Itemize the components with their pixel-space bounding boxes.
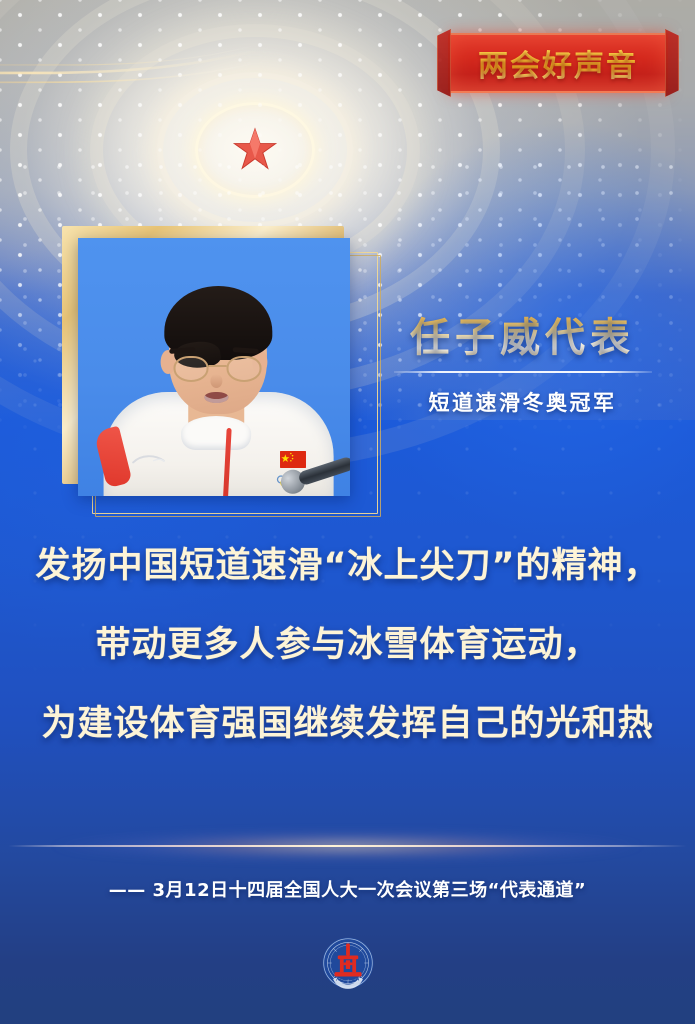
top-ribbon: 两会好声音: [448, 33, 668, 93]
svg-text:XINHUA: XINHUA: [335, 976, 359, 982]
source-attribution: —— 3月12日十四届全国人大一次会议第三场“代表通道”: [0, 876, 695, 902]
speaker-photo: [78, 238, 350, 496]
photo-lens-right: [227, 356, 262, 382]
poster-root: 两会好声音: [0, 0, 695, 1024]
quote-line-1: 发扬中国短道速滑“冰上尖刀”的精神，: [0, 548, 695, 585]
photo-mouth: [204, 392, 228, 403]
quote-line-3: 为建设体育强国继续发挥自己的光和热: [0, 706, 695, 743]
sportswear-brand-icon: [132, 452, 166, 464]
speaker-photo-block: [62, 226, 362, 511]
photo-lens-left: [174, 356, 209, 382]
name-divider-rule: [394, 371, 652, 373]
speaker-name: 任子威代表: [380, 316, 665, 360]
photo-glasses-bridge: [209, 365, 227, 367]
photo-nose: [210, 374, 222, 388]
xinhua-logo-icon: XINHUA: [321, 936, 375, 990]
speaker-name-block: 任子威代表 短道速滑冬奥冠军: [380, 316, 665, 417]
photo-collar: [181, 416, 251, 450]
quote-line-2: 带动更多人参与冰雪体育运动，: [0, 627, 695, 664]
quote-block: 发扬中国短道速滑“冰上尖刀”的精神， 带动更多人参与冰雪体育运动， 为建设体育强…: [0, 548, 695, 742]
speaker-subtitle: 短道速滑冬奥冠军: [380, 387, 665, 417]
ribbon-label: 两会好声音: [448, 33, 668, 93]
